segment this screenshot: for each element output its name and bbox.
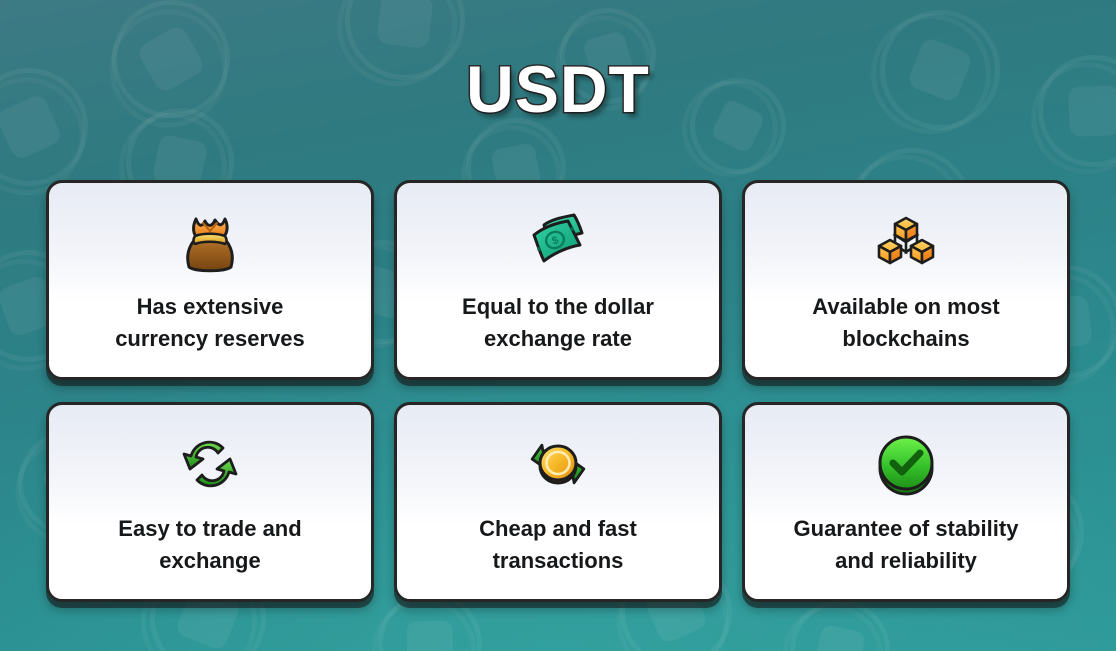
blockchain-cubes-icon (745, 199, 1067, 285)
feature-card-stability[interactable]: Guarantee of stability and reliability (742, 402, 1070, 602)
coin-transfer-icon (397, 421, 719, 507)
money-bag-icon (49, 199, 371, 285)
infographic-canvas: USDT (0, 0, 1116, 651)
feature-card-currency-reserves[interactable]: Has extensive currency reserves (46, 180, 374, 380)
feature-card-easy-trade[interactable]: Easy to trade and exchange (46, 402, 374, 602)
feature-card-label: Cheap and fast transactions (413, 513, 703, 577)
feature-card-blockchains[interactable]: Available on most blockchains (742, 180, 1070, 380)
feature-card-label: Available on most blockchains (761, 291, 1051, 355)
feature-card-grid: Has extensive currency reserves (46, 180, 1070, 602)
feature-card-label: Has extensive currency reserves (65, 291, 355, 355)
check-circle-icon (745, 421, 1067, 507)
feature-card-cheap-fast[interactable]: Cheap and fast transactions (394, 402, 722, 602)
feature-card-dollar-parity[interactable]: $ Equal to the dollar exchange rate (394, 180, 722, 380)
exchange-arrows-icon (49, 421, 371, 507)
page-title: USDT (0, 51, 1116, 127)
banknotes-icon: $ (397, 199, 719, 285)
feature-card-label: Guarantee of stability and reliability (761, 513, 1051, 577)
feature-card-label: Easy to trade and exchange (65, 513, 355, 577)
feature-card-label: Equal to the dollar exchange rate (413, 291, 703, 355)
